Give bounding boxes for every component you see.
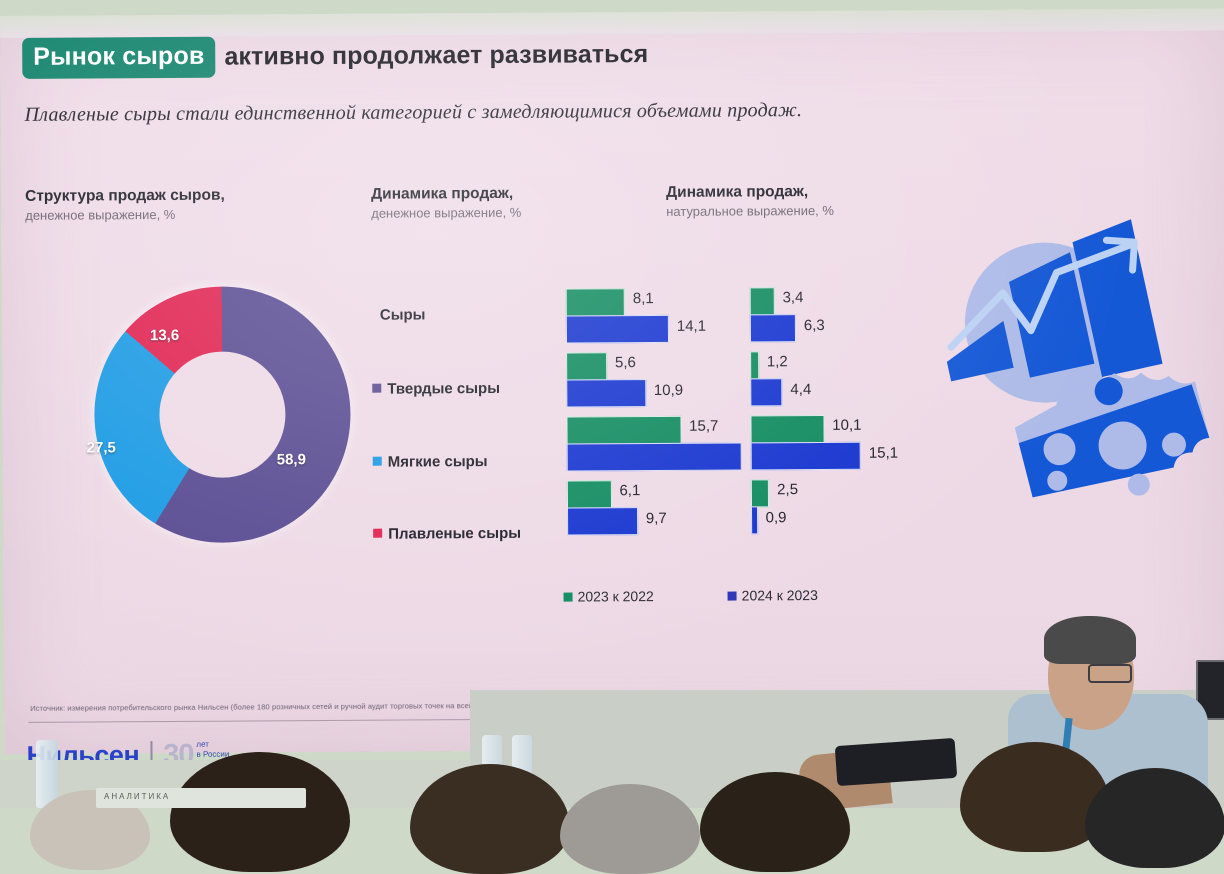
legend-label-2024: 2024 к 2023 [742, 587, 818, 603]
bar-value-2023: 5,6 [615, 354, 636, 371]
legend-item-2024: 2024 к 2023 [728, 587, 818, 604]
section-title-money: Динамика продаж, [371, 185, 513, 204]
bar-value-2023: 6,1 [619, 482, 640, 499]
bar-2024 [566, 379, 646, 407]
bar-value-2024: 6,3 [804, 317, 825, 334]
legend-swatch-2023-icon [564, 593, 573, 602]
bar-value-2023: 1,2 [767, 353, 788, 370]
audience-head [960, 742, 1110, 852]
audience-head [1085, 768, 1224, 868]
logo-tagline-line2: в России [196, 750, 229, 759]
bar-value-2023: 15,7 [689, 418, 718, 435]
nielsen-logo: Нильсен30летв России [26, 739, 229, 773]
bar-2023 [751, 479, 769, 507]
bar-2023 [750, 351, 759, 379]
category-label-all: Сыры [380, 306, 426, 323]
audience-head [30, 790, 150, 870]
donut-ring [94, 286, 352, 544]
category-label-processed: Плавленые сыры [373, 525, 521, 543]
cheese-growth-illustration [926, 214, 1218, 546]
logo-divider [150, 741, 152, 769]
footer-divider [28, 715, 1198, 723]
category-text-processed: Плавленые сыры [388, 525, 521, 543]
bar-value-2024: 10,9 [654, 382, 683, 399]
bar-2024 [750, 378, 782, 406]
category-label-soft: Мягкие сыры [373, 453, 488, 471]
category-text-soft: Мягкие сыры [388, 453, 488, 471]
logo-years: 30 [163, 739, 193, 771]
bar-value-2024: 15,1 [869, 445, 898, 462]
donut-hole [159, 351, 286, 478]
slide-header: Рынок сыровактивно продолжает развиватьс… [22, 32, 1022, 79]
logo-name: Нильсен [26, 740, 139, 771]
section-title-donut: Структура продаж сыров, [25, 187, 225, 206]
donut-label-hard: 58,9 [277, 451, 306, 468]
bar-value-2024: 14,1 [677, 318, 706, 335]
bar-2024 [751, 442, 861, 471]
section-subtitle-donut: денежное выражение, % [25, 207, 175, 223]
bar-value-2024: 4,4 [790, 381, 811, 398]
bar-2023 [566, 352, 607, 380]
bar-2024 [750, 314, 796, 342]
bar-value-2023: 2,5 [777, 481, 798, 498]
audience-head [560, 784, 700, 874]
slide-subtitle: Плавленые сыры стали единственной катего… [25, 97, 1075, 126]
title-badge: Рынок сыров [22, 37, 215, 79]
bar-value-2024: 0,9 [766, 509, 787, 526]
legend-swatch-hard-icon [372, 384, 381, 393]
source-footnote: Источник: измерения потребительского рын… [30, 697, 1180, 713]
title-rest: активно продолжает развиваться [224, 40, 648, 72]
audience-head [700, 772, 850, 872]
section-title-volume: Динамика продаж, [666, 183, 808, 202]
section-subtitle-money: денежное выражение, % [371, 205, 521, 221]
donut-label-processed: 13,6 [150, 327, 179, 344]
logo-tagline-line1: лет [196, 740, 209, 749]
legend-swatch-soft-icon [373, 457, 382, 466]
donut-label-soft: 27,5 [87, 439, 116, 456]
bar-value-2024: 9,7 [646, 510, 667, 527]
bar-2023 [567, 480, 612, 508]
legend-swatch-processed-icon [373, 529, 382, 538]
legend-swatch-2024-icon [728, 592, 737, 601]
person-badge [1058, 780, 1078, 806]
bar-2024 [566, 315, 669, 344]
donut-chart: 13,6 27,5 58,9 [94, 286, 352, 544]
bar-2023 [750, 415, 824, 443]
section-subtitle-volume: натуральное выражение, % [666, 203, 834, 219]
illustration-svg [926, 214, 1218, 546]
legend-label-2023: 2023 к 2022 [578, 588, 654, 604]
bar-2023 [566, 288, 625, 316]
bar-2024 [751, 506, 758, 534]
bar-value-2023: 10,1 [832, 417, 861, 434]
bar-2024 [567, 442, 742, 471]
desk-plaque: АНАЛИТИКА [96, 788, 306, 808]
bar-2023 [750, 287, 775, 315]
raised-hand [797, 747, 892, 812]
bar-2024 [567, 507, 638, 535]
desk-plaque-text: АНАЛИТИКА [96, 788, 306, 801]
bar-2023 [566, 416, 681, 445]
chart-legend: 2023 к 2022 2024 к 2023 [564, 587, 888, 605]
category-text-hard: Твердые сыры [387, 380, 500, 398]
legend-item-2023: 2023 к 2022 [564, 588, 654, 605]
audience-head [410, 764, 570, 874]
presentation-slide: Рынок сыровактивно продолжает развиватьс… [0, 9, 1224, 754]
category-text-all: Сыры [380, 306, 426, 323]
bar-value-2023: 3,4 [782, 289, 803, 306]
logo-tagline: летв России [196, 740, 229, 760]
bar-value-2023: 8,1 [633, 290, 654, 307]
category-label-hard: Твердые сыры [372, 380, 500, 398]
